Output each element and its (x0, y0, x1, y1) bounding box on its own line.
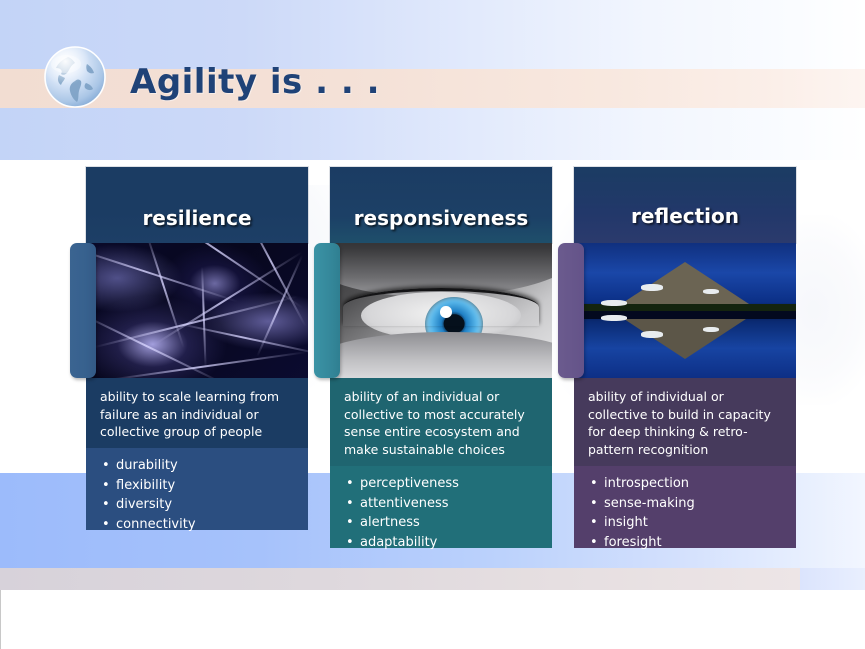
list-item: •attentiveness (342, 494, 540, 514)
list-item-label: diversity (116, 497, 172, 512)
card-heading: responsiveness (354, 206, 529, 230)
card-side-tab (70, 243, 96, 378)
card-reflection: reflection ability of (574, 167, 796, 548)
card-description: ability of individual or collective to b… (574, 378, 796, 466)
page-title: Agility is . . . (130, 62, 380, 102)
background-grey-band (0, 568, 800, 590)
bullet-icon: • (346, 513, 354, 533)
bullet-icon: • (590, 474, 598, 494)
card-header-responsiveness: responsiveness (330, 167, 552, 243)
list-item: •perceptiveness (342, 474, 540, 494)
card-side-tab (314, 243, 340, 378)
list-item-label: alertness (360, 515, 420, 530)
list-item: •connectivity (98, 515, 296, 535)
card-bullet-list-resilience: •durability •flexibility •diversity •con… (86, 448, 308, 530)
card-bullet-list-reflection: •introspection •sense-making •insight •f… (574, 466, 796, 548)
card-image-area-reflection (574, 243, 796, 378)
background-grey-band-right (800, 568, 865, 590)
list-item: •foresight (586, 533, 784, 553)
slide: Agility is . . . resilience (0, 0, 865, 649)
list-item: •alertness (342, 513, 540, 533)
list-item-label: adaptability (360, 535, 437, 550)
list-item-label: insight (604, 515, 648, 530)
list-item: •insight (586, 513, 784, 533)
bullet-icon: • (590, 513, 598, 533)
list-item-label: connectivity (116, 517, 196, 532)
list-item-label: foresight (604, 535, 662, 550)
card-responsiveness: responsiveness ability of an individual … (330, 167, 552, 548)
list-item-label: flexibility (116, 478, 175, 493)
bullet-icon: • (590, 494, 598, 514)
background-bottom-white (0, 590, 865, 649)
bullet-icon: • (102, 476, 110, 496)
card-bullet-list-responsiveness: •perceptiveness •attentiveness •alertnes… (330, 466, 552, 548)
card-description: ability to scale learning from failure a… (86, 378, 308, 448)
blue-eye-image (330, 243, 552, 378)
list-item: •durability (98, 456, 296, 476)
list-item: •diversity (98, 495, 296, 515)
list-item-label: attentiveness (360, 496, 449, 511)
mountain-lake-reflection-image (574, 243, 796, 378)
bullet-icon: • (102, 456, 110, 476)
list-item-label: sense-making (604, 496, 695, 511)
card-heading: resilience (142, 206, 251, 230)
list-item: •flexibility (98, 476, 296, 496)
card-image-area-resilience (86, 243, 308, 378)
list-item: •sense-making (586, 494, 784, 514)
list-item: •introspection (586, 474, 784, 494)
card-header-reflection: reflection (574, 167, 796, 243)
card-image-area-responsiveness (330, 243, 552, 378)
card-header-resilience: resilience (86, 167, 308, 243)
list-item-label: introspection (604, 476, 689, 491)
list-item-label: perceptiveness (360, 476, 459, 491)
neuron-network-image (86, 243, 308, 378)
bullet-icon: • (346, 494, 354, 514)
list-item: •adaptability (342, 533, 540, 553)
card-resilience: resilience ability to (86, 167, 308, 530)
bullet-icon: • (102, 495, 110, 515)
bullet-icon: • (346, 474, 354, 494)
bullet-icon: • (346, 533, 354, 553)
card-side-tab (558, 243, 584, 378)
card-heading: reflection (631, 204, 739, 228)
list-item-label: durability (116, 458, 178, 473)
bullet-icon: • (102, 515, 110, 535)
card-description: ability of an individual or collective t… (330, 378, 552, 466)
globe-icon (42, 44, 108, 110)
bullet-icon: • (590, 533, 598, 553)
